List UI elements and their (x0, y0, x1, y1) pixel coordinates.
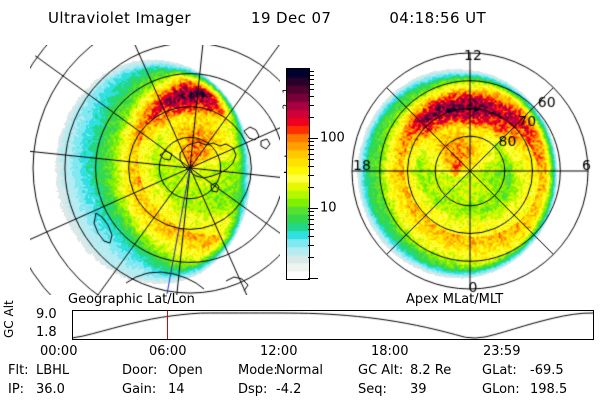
colorbar-tick (308, 215, 314, 216)
time-axis-tick-label: 00:00 (40, 344, 77, 359)
header-bar: Ultraviolet Imager 19 Dec 07 04:18:56 UT (0, 6, 600, 30)
orbit-track-box[interactable] (72, 310, 594, 340)
colorbar-gradient (286, 68, 310, 280)
colorbar-tick-label: 100 (320, 131, 345, 146)
colorbar-tick (308, 208, 318, 209)
status-field-key: GC Alt: (358, 363, 403, 378)
time-axis: 00:0006:0012:0018:0023:59 (0, 344, 600, 362)
colorbar-tick (308, 154, 314, 155)
geographic-image-canvas (30, 45, 280, 295)
status-field-value: Normal (276, 363, 323, 378)
geographic-aurora-plot[interactable] (30, 45, 280, 295)
colorbar-tick (308, 166, 314, 167)
status-field-value: 39 (410, 382, 427, 397)
orbit-track-canvas (73, 311, 593, 339)
mlt-image-canvas (345, 42, 595, 294)
time-axis-tick-label: 06:00 (149, 344, 186, 359)
status-field-value: 198.5 (530, 382, 567, 397)
colorbar-tick (308, 145, 314, 146)
time-axis-tick-label: 18:00 (371, 344, 408, 359)
status-field-value: Open (168, 363, 203, 378)
observation-time: 04:18:56 UT (389, 9, 486, 27)
status-field-value: 14 (168, 382, 185, 397)
status-field-value: LBHL (36, 363, 69, 378)
colorbar-tick (308, 257, 314, 258)
status-row-1: Flt:LBHLDoor:OpenMode:NormalGC Alt:8.2 R… (0, 363, 600, 381)
status-field-key: IP: (8, 382, 24, 397)
colorbar-tick (308, 187, 314, 188)
colorbar-tick (308, 71, 314, 72)
colorbar-tick (308, 84, 314, 85)
colorbar-ticks: 10010 (308, 68, 342, 278)
status-field-value: -69.5 (530, 363, 564, 378)
observation-date: 19 Dec 07 (251, 9, 331, 27)
colorbar-tick (308, 138, 318, 139)
status-field-key: Mode: (238, 363, 278, 378)
orbit-y-max-label: 9.0 (36, 307, 57, 322)
colorbar-tick (308, 229, 314, 230)
colorbar-tick (308, 245, 314, 246)
status-field-key: Dsp: (238, 382, 267, 397)
colorbar-tick (308, 105, 314, 106)
colorbar-tick (308, 96, 314, 97)
orbit-y-min-label: 1.8 (36, 325, 57, 340)
status-field-key: GLon: (482, 382, 520, 397)
geo-plot-caption: Geographic Lat/Lon (68, 292, 195, 307)
status-field-value: 8.2 Re (410, 363, 451, 378)
colorbar-tick (308, 236, 314, 237)
status-row-2: IP:36.0Gain:14Dsp:-4.2Seq:39GLon:198.5 (0, 382, 600, 400)
current-time-marker (167, 311, 168, 339)
status-field-key: Flt: (8, 363, 29, 378)
colorbar-tick (308, 224, 314, 225)
colorbar: photon cm-2s-1 10010 (262, 55, 342, 295)
colorbar-tick (308, 149, 314, 150)
status-field-key: Door: (122, 363, 157, 378)
colorbar-canvas (287, 69, 309, 279)
status-field-key: Seq: (358, 382, 387, 397)
colorbar-tick (308, 278, 318, 279)
colorbar-tick (308, 79, 314, 80)
magnetic-aurora-plot[interactable] (345, 42, 595, 294)
time-axis-tick-label: 12:00 (260, 344, 297, 359)
orbit-altitude-panel: Geographic Lat/Lon Apex MLat/MLT GC Alt … (0, 296, 600, 344)
colorbar-tick (308, 75, 314, 76)
orbit-y-axis-label: GC Alt (2, 304, 36, 338)
colorbar-tick-label: 10 (320, 201, 337, 216)
status-field-value: 36.0 (36, 382, 65, 397)
status-field-key: GLat: (482, 363, 517, 378)
colorbar-tick (308, 89, 314, 90)
colorbar-tick (308, 159, 314, 160)
colorbar-tick (308, 141, 314, 142)
status-panel: Flt:LBHLDoor:OpenMode:NormalGC Alt:8.2 R… (0, 363, 600, 400)
colorbar-tick (308, 219, 314, 220)
colorbar-tick (308, 117, 314, 118)
mlt-plot-caption: Apex MLat/MLT (406, 292, 503, 307)
time-axis-tick-label: 23:59 (483, 344, 520, 359)
colorbar-tick (308, 175, 314, 176)
instrument-title: Ultraviolet Imager (48, 9, 191, 27)
status-field-value: -4.2 (276, 382, 301, 397)
status-field-key: Gain: (122, 382, 156, 397)
colorbar-tick (308, 211, 314, 212)
